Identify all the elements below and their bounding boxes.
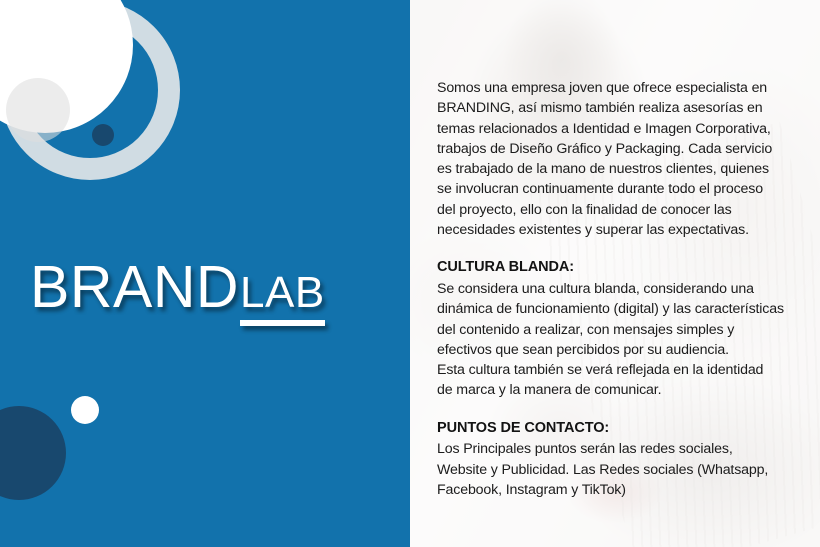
paragraph-block-puntos-de-contacto: PUNTOS DE CONTACTO: Los Principales punt… [437, 418, 799, 500]
section-body-puntos-de-contacto: Los Principales puntos serán las redes s… [437, 439, 799, 500]
brand-color-panel: BRAND LAB [0, 0, 410, 547]
logo-underline-rule [240, 320, 325, 326]
logo-word-lab: LAB [240, 271, 325, 315]
decorative-circle-navy-large [0, 406, 66, 500]
slide-text-content: Somos una empresa joven que ofrece espec… [437, 78, 799, 500]
decorative-circle-grey-translucent [6, 78, 70, 142]
logo-word-brand: BRAND [30, 258, 239, 317]
decorative-dot-white-small [71, 396, 99, 424]
brand-presentation-slide: BRAND LAB Somos una empresa joven que of… [0, 0, 820, 547]
decorative-dot-navy-small [92, 124, 114, 146]
section-heading-puntos-de-contacto: PUNTOS DE CONTACTO: [437, 418, 799, 439]
logo-lab-group: LAB [240, 271, 325, 326]
paragraph-block-intro: Somos una empresa joven que ofrece espec… [437, 78, 799, 240]
intro-paragraph: Somos una empresa joven que ofrece espec… [437, 78, 799, 240]
brandlab-logo: BRAND LAB [30, 258, 325, 326]
section-body-cultura-blanda: Se considera una cultura blanda, conside… [437, 279, 799, 401]
section-heading-cultura-blanda: CULTURA BLANDA: [437, 257, 799, 278]
paragraph-block-cultura-blanda: CULTURA BLANDA: Se considera una cultura… [437, 257, 799, 400]
